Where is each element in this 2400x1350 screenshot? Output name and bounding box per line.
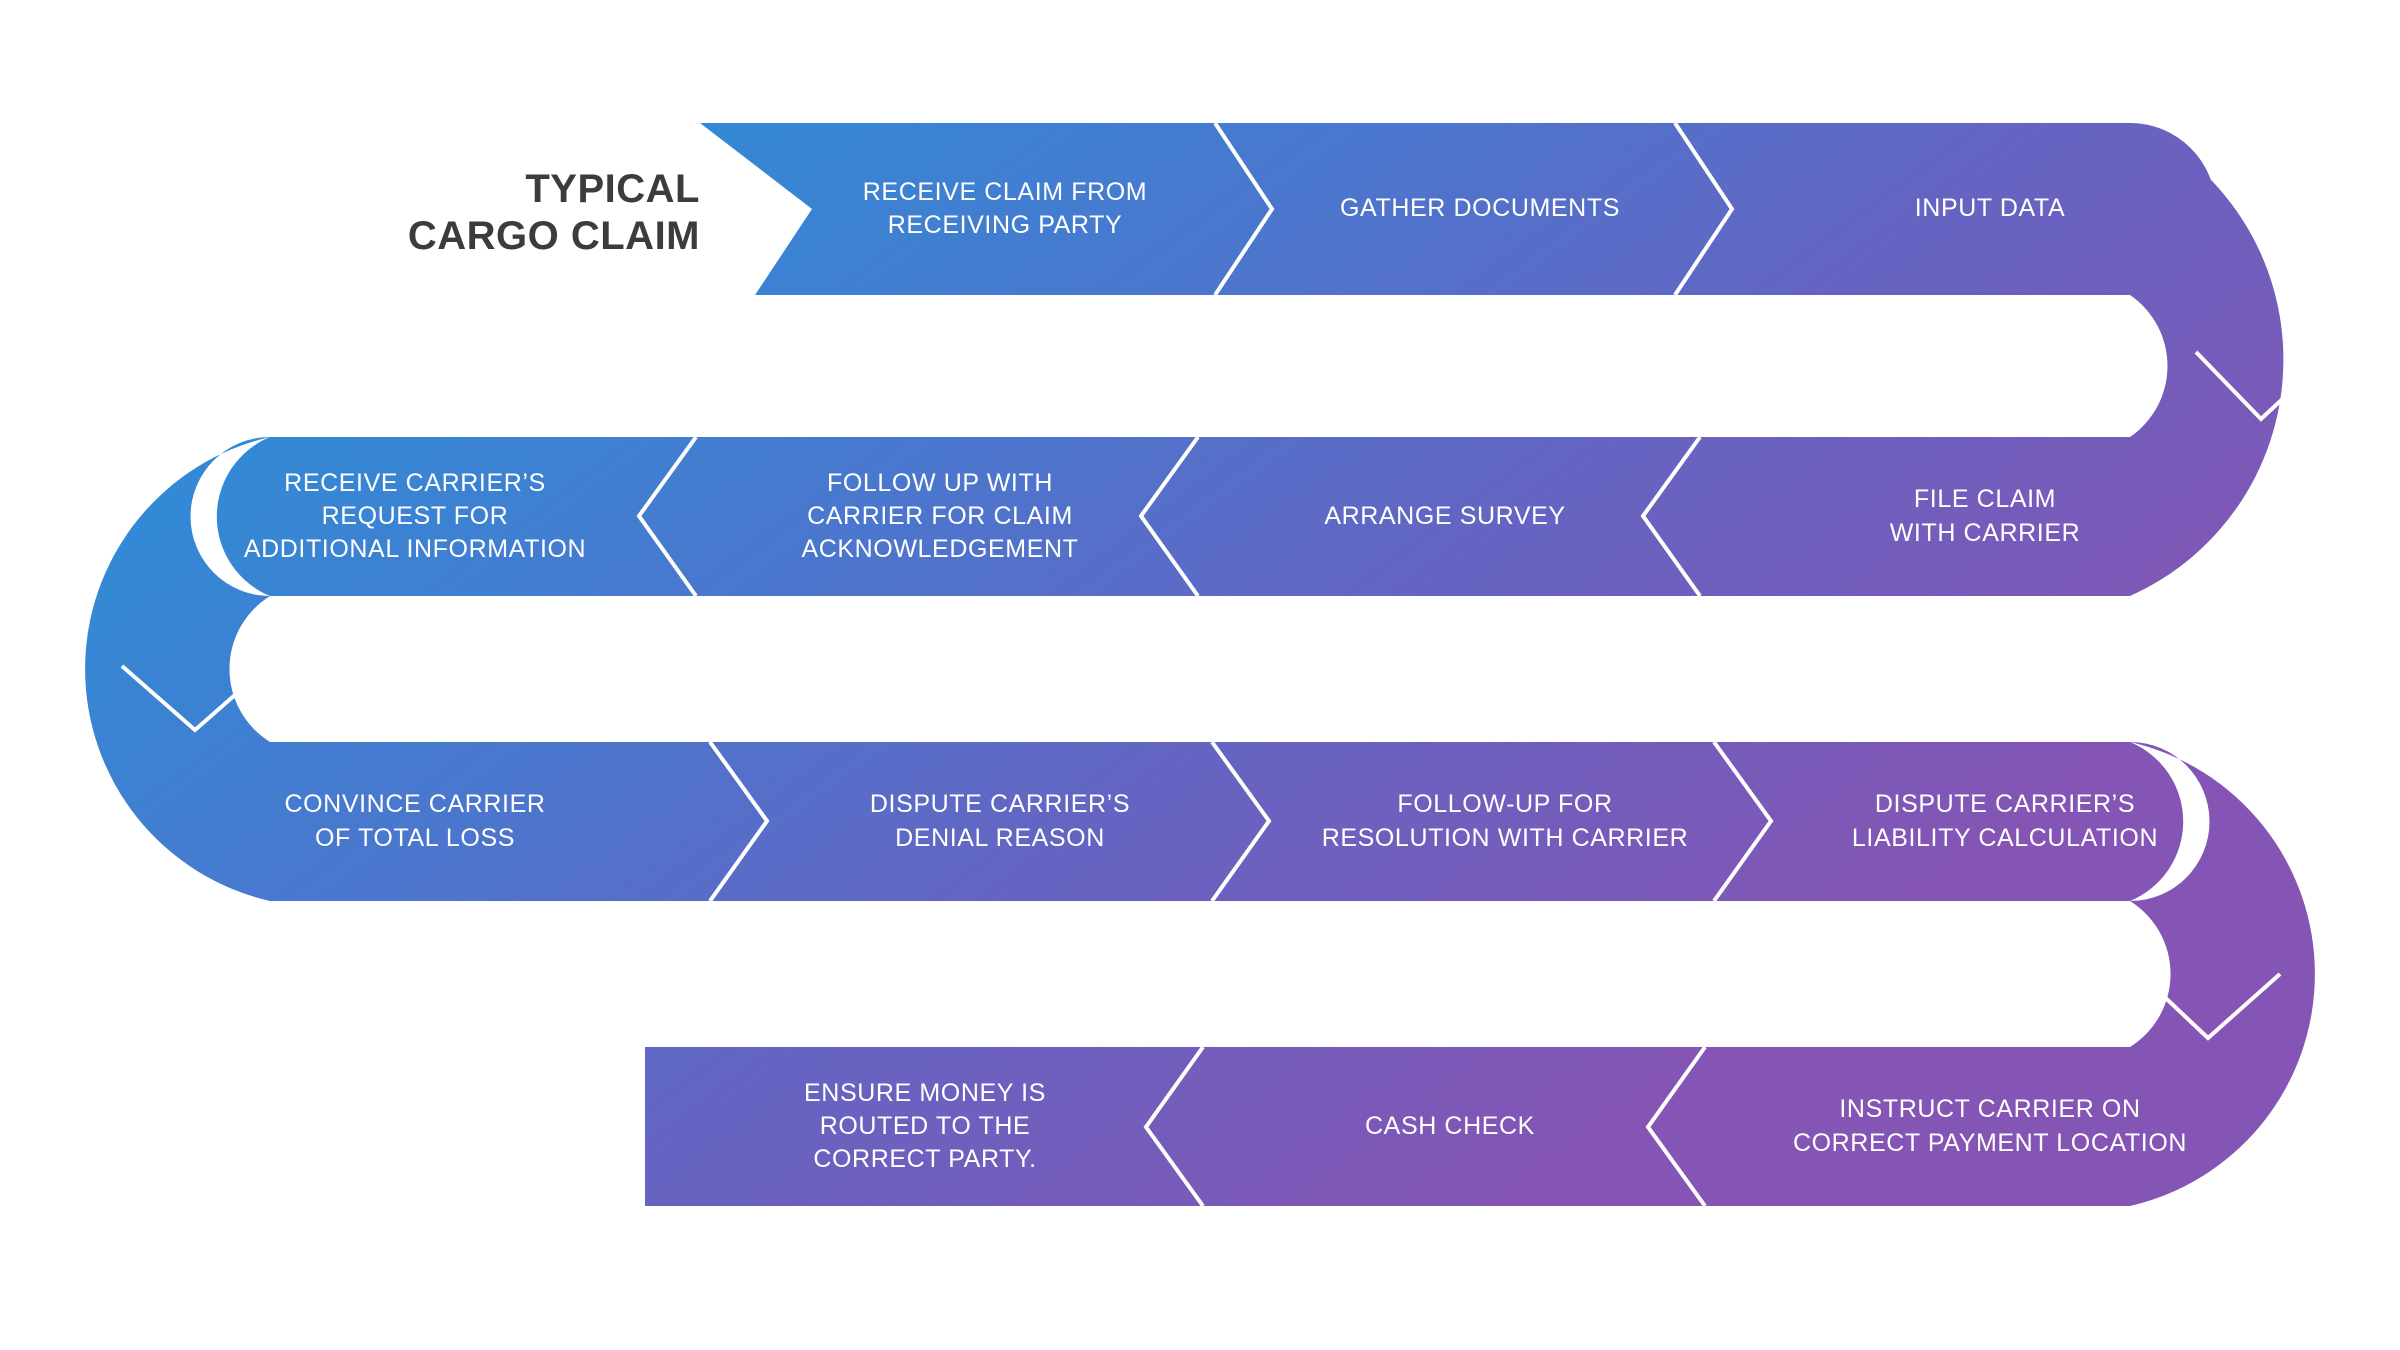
flowchart-canvas: TYPICAL CARGO CLAIM RECEIVE CLAIM FROM R…: [0, 0, 2400, 1350]
page-title: TYPICAL CARGO CLAIM: [300, 166, 700, 260]
ribbon-body: [85, 123, 2315, 1206]
